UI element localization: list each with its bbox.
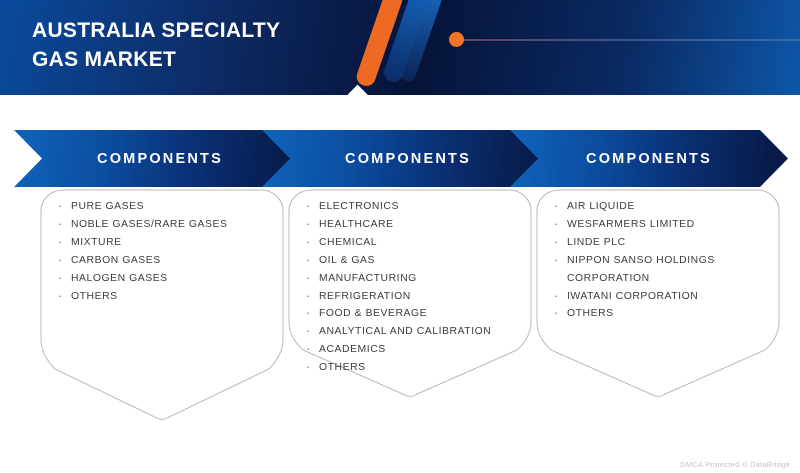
banner-components-2: COMPONENTS: [262, 130, 554, 187]
banner-label: COMPONENTS: [345, 151, 471, 167]
list-item: NIPPON SANSO HOLDINGS CORPORATION: [529, 252, 787, 288]
list-item: PURE GASES: [33, 198, 291, 216]
page-title: AUSTRALIA SPECIALTY GAS MARKET: [32, 16, 362, 74]
list-item: HEALTHCARE: [281, 216, 539, 234]
list-item: MIXTURE: [33, 234, 291, 252]
list-item: FOOD & BEVERAGE: [281, 305, 539, 323]
list-item: LINDE PLC: [529, 234, 787, 252]
list-column-3: AIR LIQUIDE WESFARMERS LIMITED LINDE PLC…: [529, 189, 787, 323]
list-item: MANUFACTURING: [281, 270, 539, 288]
card-column-2: ELECTRONICS HEALTHCARE CHEMICAL OIL & GA…: [281, 189, 539, 404]
list-column-2: ELECTRONICS HEALTHCARE CHEMICAL OIL & GA…: [281, 189, 539, 377]
card-column-1: PURE GASES NOBLE GASES/RARE GASES MIXTUR…: [33, 189, 291, 427]
list-item: OIL & GAS: [281, 252, 539, 270]
list-item: OTHERS: [281, 359, 539, 377]
banner-label: COMPONENTS: [586, 151, 712, 167]
list-item: CARBON GASES: [33, 252, 291, 270]
list-item: WESFARMERS LIMITED: [529, 216, 787, 234]
banner-components-3: COMPONENTS: [510, 130, 788, 187]
list-item: HALOGEN GASES: [33, 270, 291, 288]
card-column-3: AIR LIQUIDE WESFARMERS LIMITED LINDE PLC…: [529, 189, 787, 404]
list-item: CHEMICAL: [281, 234, 539, 252]
list-item: ACADEMICS: [281, 341, 539, 359]
list-item: OTHERS: [33, 288, 291, 306]
list-column-1: PURE GASES NOBLE GASES/RARE GASES MIXTUR…: [33, 189, 291, 305]
list-item: AIR LIQUIDE: [529, 198, 787, 216]
list-item: REFRIGERATION: [281, 288, 539, 306]
banner-label: COMPONENTS: [97, 151, 223, 167]
list-item: ANALYTICAL AND CALIBRATION: [281, 323, 539, 341]
accent-dot-icon: [449, 32, 464, 47]
banner-components-1: COMPONENTS: [14, 130, 306, 187]
list-item: ELECTRONICS: [281, 198, 539, 216]
accent-line-divider: [462, 39, 800, 41]
page-header: AUSTRALIA SPECIALTY GAS MARKET: [0, 0, 800, 95]
list-item: NOBLE GASES/RARE GASES: [33, 216, 291, 234]
dmca-footer-note: DMCA Protected © DataBridge: [680, 460, 790, 469]
brand-logo: [340, 0, 470, 95]
list-item: OTHERS: [529, 305, 787, 323]
list-item: IWATANI CORPORATION: [529, 288, 787, 306]
